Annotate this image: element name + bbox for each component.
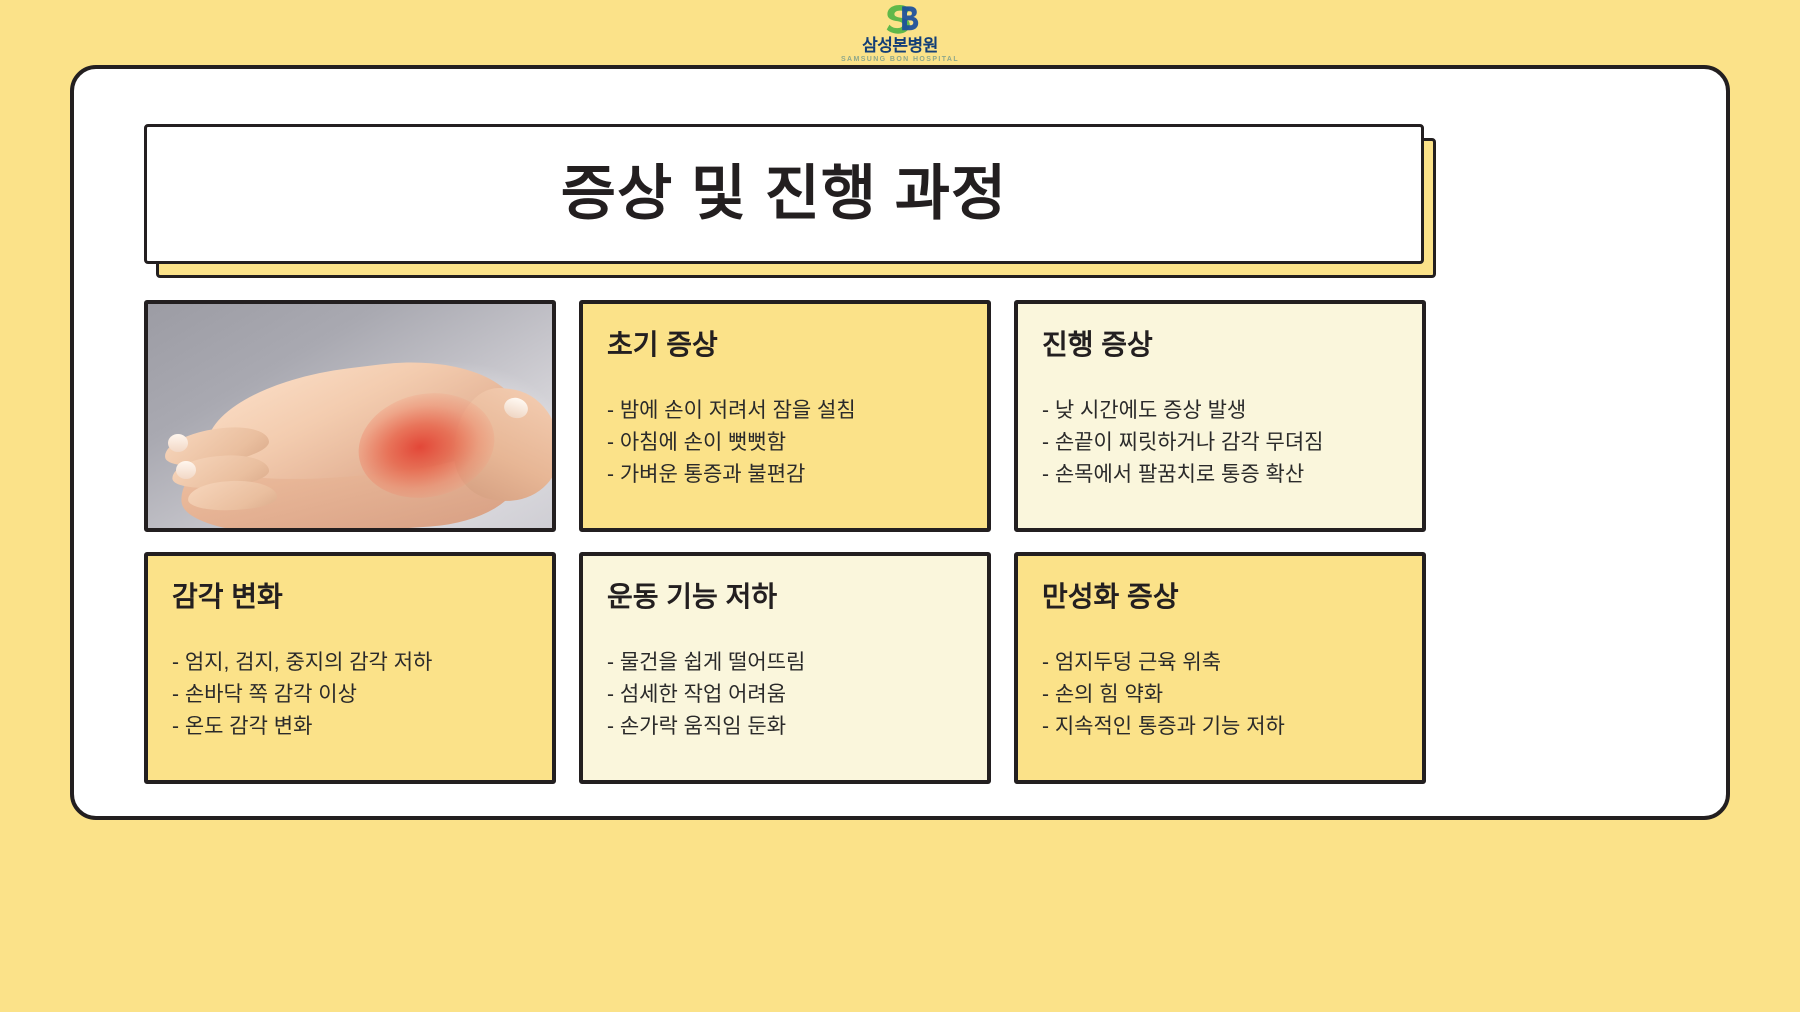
card-title: 운동 기능 저하 [607,582,963,613]
list-item: - 손끝이 찌릿하거나 감각 무뎌짐 [1042,427,1398,459]
card-item-list: - 엄지, 검지, 중지의 감각 저하 - 손바닥 쪽 감각 이상 - 온도 감… [172,647,528,743]
card-item-list: - 엄지두덩 근육 위축 - 손의 힘 약화 - 지속적인 통증과 기능 저하 [1042,647,1398,743]
brand-name: 삼성본병원 [862,37,938,54]
card-motor-decline: 운동 기능 저하 - 물건을 쉽게 떨어뜨림 - 섬세한 작업 어려움 - 손가… [579,552,991,784]
card-progressive-symptoms: 진행 증상 - 낮 시간에도 증상 발생 - 손끝이 찌릿하거나 감각 무뎌짐 … [1014,300,1426,532]
wrist-pain-photo [144,300,556,532]
card-early-symptoms: 초기 증상 - 밤에 손이 저려서 잠을 설침 - 아침에 손이 뻣뻣함 - 가… [579,300,991,532]
list-item: - 손의 힘 약화 [1042,679,1398,711]
list-item: - 물건을 쉽게 떨어뜨림 [607,647,963,679]
brand-header: 삼성본병원 SAMSUNG BON HOSPITAL [0,2,1800,63]
card-chronic-symptoms: 만성화 증상 - 엄지두덩 근육 위축 - 손의 힘 약화 - 지속적인 통증과… [1014,552,1426,784]
card-title: 감각 변화 [172,582,528,613]
card-item-list: - 물건을 쉽게 떨어뜨림 - 섬세한 작업 어려움 - 손가락 움직임 둔화 [607,647,963,743]
page-title-block: 증상 및 진행 과정 [144,124,1424,264]
samsung-bon-hospital-logo-icon [879,2,921,36]
list-item: - 밤에 손이 저려서 잠을 설침 [607,395,963,427]
title-box: 증상 및 진행 과정 [144,124,1424,264]
card-item-list: - 밤에 손이 저려서 잠을 설침 - 아침에 손이 뻣뻣함 - 가벼운 통증과… [607,395,963,491]
fingernail-shape [168,434,188,452]
list-item: - 아침에 손이 뻣뻣함 [607,427,963,459]
list-item: - 낮 시간에도 증상 발생 [1042,395,1398,427]
card-title: 초기 증상 [607,330,963,361]
list-item: - 엄지두덩 근육 위축 [1042,647,1398,679]
list-item: - 섬세한 작업 어려움 [607,679,963,711]
fingernail-shape [176,461,196,479]
brand-subtitle: SAMSUNG BON HOSPITAL [841,56,959,63]
card-title: 만성화 증상 [1042,582,1398,613]
symptom-card-grid: 초기 증상 - 밤에 손이 저려서 잠을 설침 - 아침에 손이 뻣뻣함 - 가… [144,300,1425,784]
list-item: - 가벼운 통증과 불편감 [607,459,963,491]
page-title: 증상 및 진행 과정 [561,164,1007,224]
card-sensory-change: 감각 변화 - 엄지, 검지, 중지의 감각 저하 - 손바닥 쪽 감각 이상 … [144,552,556,784]
list-item: - 손가락 움직임 둔화 [607,711,963,743]
list-item: - 온도 감각 변화 [172,711,528,743]
card-title: 진행 증상 [1042,330,1398,361]
list-item: - 손목에서 팔꿈치로 통증 확산 [1042,459,1398,491]
card-item-list: - 낮 시간에도 증상 발생 - 손끝이 찌릿하거나 감각 무뎌짐 - 손목에서… [1042,395,1398,491]
list-item: - 손바닥 쪽 감각 이상 [172,679,528,711]
list-item: - 지속적인 통증과 기능 저하 [1042,711,1398,743]
list-item: - 엄지, 검지, 중지의 감각 저하 [172,647,528,679]
